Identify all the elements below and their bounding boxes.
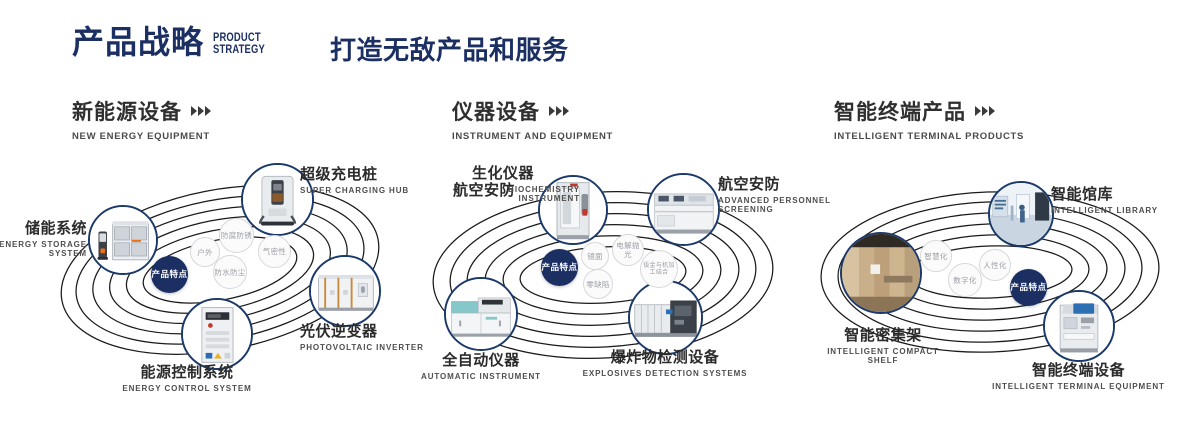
- feature-bubble-center: 产品特点: [151, 256, 188, 293]
- product-label-biochemistry: 生化仪器 BIOCHEMISTRYINSTRUMENT: [472, 162, 602, 203]
- product-circle-compact-shelf[interactable]: [840, 232, 922, 314]
- chevron-right-icon: [549, 106, 569, 116]
- product-circle-terminal-equipment[interactable]: [1043, 290, 1115, 362]
- product-circle-intelligent-library[interactable]: [988, 181, 1054, 247]
- product-label-energy-control: 能源控制系统 ENERGY CONTROL SYSTEM: [87, 361, 287, 393]
- chevron-right-icon: [191, 106, 211, 116]
- product-circle-energy-storage[interactable]: [88, 205, 158, 275]
- library-room-icon: [990, 183, 1052, 245]
- product-strategy-infographic: 产品战略 PRODUCT STRATEGY 打造无敌产品和服务 新能源设备 NE…: [0, 0, 1200, 422]
- feature-bubble-0: 镜面: [581, 242, 609, 270]
- page-title-cn: 产品战略: [72, 26, 204, 58]
- section-heading-new-energy: 新能源设备 NEW ENERGY EQUIPMENT: [72, 96, 211, 142]
- product-circle-energy-control[interactable]: [181, 298, 253, 370]
- product-label-terminal-equipment: 智能终端设备 INTELLIGENT TERMINAL EQUIPMENT: [986, 359, 1171, 391]
- energy-storage-cabinet-icon: [90, 207, 156, 273]
- page-title-block: 产品战略 PRODUCT STRATEGY: [72, 26, 276, 58]
- page-title-en-line1: PRODUCT: [213, 33, 265, 45]
- feature-bubble-1: 防腐防锈: [219, 218, 254, 253]
- section-heading-intelligent-terminal: 智能终端产品 INTELLIGENT TERMINAL PRODUCTS: [834, 96, 1024, 142]
- feature-bubble-3: 防水防尘: [213, 255, 247, 289]
- feature-bubble-1: 数字化: [948, 263, 982, 297]
- feature-bubble-0: 智慧化: [920, 240, 952, 272]
- product-label-energy-storage: 储能系统 ENERGY STORAGESYSTEM: [0, 217, 87, 258]
- section-title-en: INSTRUMENT AND EQUIPMENT: [452, 131, 613, 142]
- product-label-intelligent-library: 智能馆库 INTELLIGENT LIBRARY: [1051, 183, 1200, 215]
- section-title-en: NEW ENERGY EQUIPMENT: [72, 131, 211, 142]
- compact-shelf-icon: [842, 234, 920, 312]
- section-title-en: INTELLIGENT TERMINAL PRODUCTS: [834, 131, 1024, 142]
- chevron-right-icon: [975, 106, 995, 116]
- section-title-cn: 新能源设备: [72, 96, 182, 126]
- orbit-diagram-instrument: 产品特点 镜面 电解抛光 钣金与机加工结合 零缺陷 航空安防 生化仪器 BIOC…: [400, 150, 800, 390]
- feature-bubble-1: 电解抛光: [612, 234, 644, 266]
- automatic-analyzer-icon: [446, 279, 516, 349]
- feature-bubble-2: 人性化: [979, 249, 1011, 281]
- product-label-explosives-detector: 爆炸物检测设备 EXPLOSIVES DETECTION SYSTEMS: [575, 346, 755, 378]
- feature-bubble-2: 钣金与机加工结合: [640, 250, 678, 288]
- feature-bubble-2: 气密性: [258, 235, 291, 268]
- orbit-diagram-intelligent-terminal: 智慧化 数字化 人性化 产品特点 智能馆库 INTELLIGENT LIBRAR…: [790, 150, 1200, 390]
- feature-bubble-center: 产品特点: [541, 249, 578, 286]
- section-title-cn: 智能终端产品: [834, 96, 966, 126]
- product-label-automatic-instrument: 全自动仪器 AUTOMATIC INSTRUMENT: [400, 349, 562, 381]
- product-circle-screening[interactable]: [647, 173, 720, 246]
- page-title-en: PRODUCT STRATEGY: [213, 33, 265, 56]
- product-circle-explosives-detector[interactable]: [628, 280, 703, 355]
- product-label-compact-shelf: 智能密集架 INTELLIGENT COMPACTSHELF: [808, 324, 958, 365]
- inverter-cabinet-icon: [311, 257, 379, 325]
- control-cabinet-icon: [183, 300, 251, 368]
- product-circle-automatic-instrument[interactable]: [444, 277, 518, 351]
- section-title-cn: 仪器设备: [452, 96, 540, 126]
- screening-machine-icon: [649, 175, 718, 244]
- page-title-en-line2: STRATEGY: [213, 45, 265, 57]
- page-subtitle: 打造无敌产品和服务: [330, 30, 569, 67]
- section-heading-instrument: 仪器设备 INSTRUMENT AND EQUIPMENT: [452, 96, 613, 142]
- feature-bubble-3: 零缺陷: [583, 269, 613, 299]
- product-circle-pv-inverter[interactable]: [309, 255, 381, 327]
- explosives-detector-icon: [630, 282, 701, 353]
- orbit-diagram-new-energy: 产品特点 户外 防腐防锈 气密性 防水防尘 储能系统 ENERGY STORAG…: [0, 150, 400, 390]
- feature-bubble-center: 产品特点: [1010, 269, 1047, 306]
- self-service-kiosk-icon: [1045, 292, 1113, 360]
